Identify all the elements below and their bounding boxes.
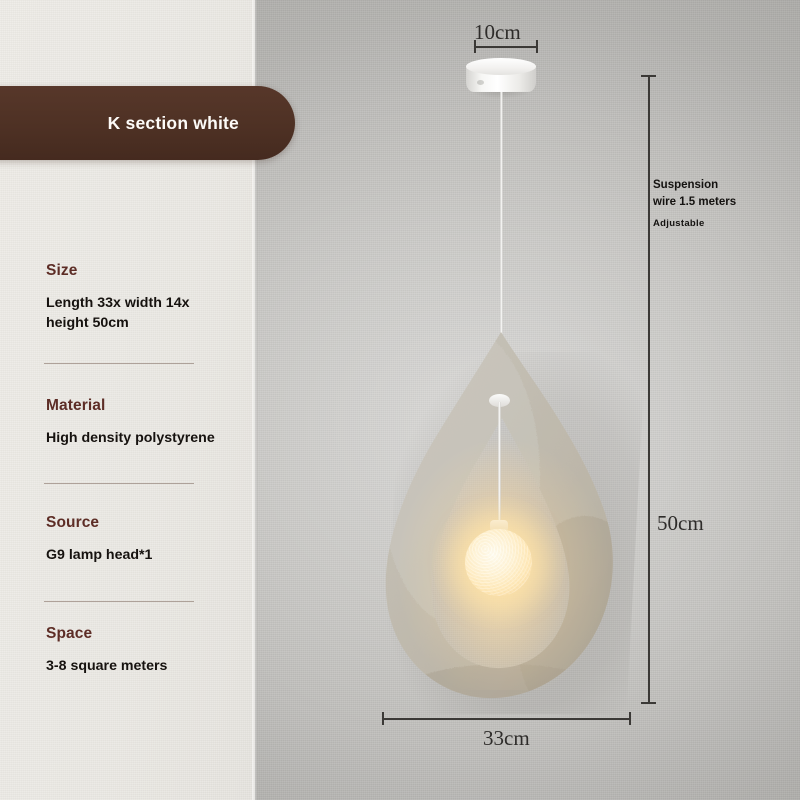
width-dimension-tick-left <box>382 712 384 725</box>
spec-divider-2 <box>44 483 194 484</box>
spec-divider-1 <box>44 363 194 364</box>
height-dimension-label: 50cm <box>657 511 704 536</box>
adjustable-note: Adjustable <box>653 218 705 229</box>
spec-value-size: Length 33x width 14x height 50cm <box>46 293 251 333</box>
ceiling-canopy-top <box>466 58 536 75</box>
variant-title-label: K section white <box>108 113 239 134</box>
spec-value-material: High density polystyrene <box>46 428 251 448</box>
suspension-wire-note: Suspension wire 1.5 meters <box>653 177 736 210</box>
spec-block-material: Material High density polystyrene <box>46 397 251 448</box>
spec-divider-3 <box>44 601 194 602</box>
spec-value-source: G9 lamp head*1 <box>46 545 251 565</box>
height-dimension-tick-bottom <box>641 702 656 704</box>
canopy-dimension-label: 10cm <box>474 20 521 45</box>
spec-block-source: Source G9 lamp head*1 <box>46 514 251 565</box>
width-dimension-line <box>382 718 630 720</box>
canopy-screw-hole <box>477 80 484 85</box>
spec-label-size: Size <box>46 262 251 280</box>
canopy-dimension-line <box>474 46 538 48</box>
spec-label-space: Space <box>46 625 251 643</box>
height-dimension-line <box>648 75 650 703</box>
bulb-speckle-texture <box>465 529 532 596</box>
spec-block-space: Space 3-8 square meters <box>46 625 251 676</box>
product-spec-image: 10cm 50cm 33cm Suspension wire 1.5 meter… <box>0 0 800 800</box>
height-dimension-tick-top <box>641 75 656 77</box>
suspension-wire <box>500 92 503 337</box>
spec-value-space: 3-8 square meters <box>46 656 251 676</box>
spec-block-size: Size Length 33x width 14x height 50cm <box>46 262 251 333</box>
variant-title-banner: K section white <box>0 86 295 160</box>
spec-label-material: Material <box>46 397 251 415</box>
spec-label-source: Source <box>46 514 251 532</box>
width-dimension-label: 33cm <box>483 726 530 751</box>
width-dimension-tick-right <box>629 712 631 725</box>
canopy-dimension-tick-right <box>536 40 538 53</box>
